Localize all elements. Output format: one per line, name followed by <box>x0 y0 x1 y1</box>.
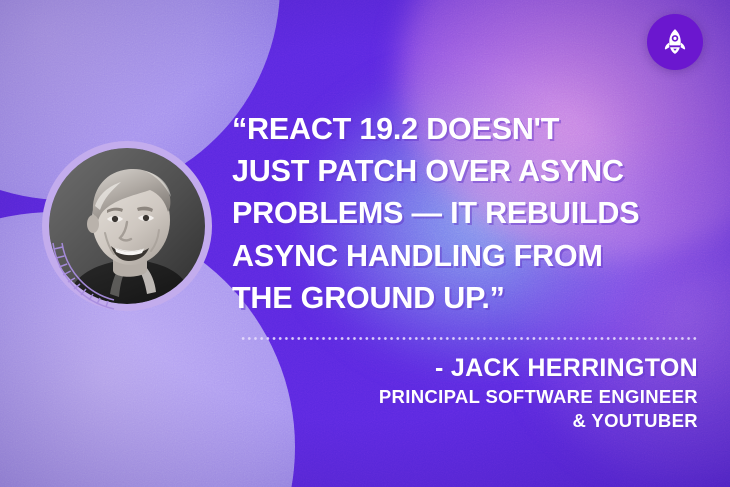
attribution: - JACK HERRINGTON PRINCIPAL SOFTWARE ENG… <box>232 354 698 432</box>
quote-line: THE GROUND UP.” <box>232 277 698 319</box>
quote-card: “REACT 19.2 DOESN'T JUST PATCH OVER ASYN… <box>0 0 730 487</box>
brand-logo[interactable] <box>647 14 703 70</box>
quote-line: ASYNC HANDLING FROM <box>232 235 698 277</box>
portrait-ring <box>42 141 212 311</box>
attribution-role: PRINCIPAL SOFTWARE ENGINEER & YOUTUBER <box>232 385 698 432</box>
speaker-portrait <box>42 141 212 311</box>
attribution-name: - JACK HERRINGTON <box>232 354 698 382</box>
quote-content: “REACT 19.2 DOESN'T JUST PATCH OVER ASYN… <box>232 108 698 433</box>
attribution-role-line: PRINCIPAL SOFTWARE ENGINEER <box>232 385 698 409</box>
quote-line: PROBLEMS — IT REBUILDS <box>232 192 698 234</box>
attribution-role-line: & YOUTUBER <box>232 409 698 433</box>
quote-line: JUST PATCH OVER ASYNC <box>232 150 698 192</box>
rocket-icon <box>660 27 690 57</box>
quote-text: “REACT 19.2 DOESN'T JUST PATCH OVER ASYN… <box>232 108 698 319</box>
quote-line: “REACT 19.2 DOESN'T <box>232 108 698 150</box>
dotted-divider <box>240 337 698 340</box>
